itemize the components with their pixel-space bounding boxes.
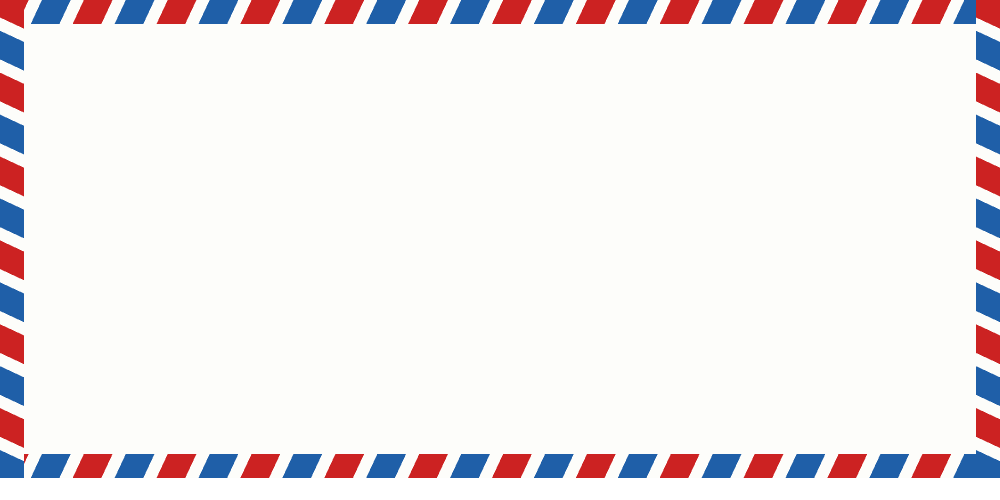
label-level-2-sub-line-1: 二级：邮区 (165, 248, 405, 268)
digit-box-1[interactable]: 3 (36, 28, 112, 104)
label-level-2-sub: 二级：邮区 (165, 248, 405, 268)
label-level-4-sub: 四级：投递局（区） (490, 416, 780, 436)
postcode-diagram: 3 1 5 5 3 7 浙江省 一级：省、自 治区、直辖市 宁波市 二级：邮 (0, 0, 1000, 500)
digit-box-6[interactable]: 7 (897, 28, 973, 104)
digit-glyph-3: 5 (400, 43, 433, 89)
digit-glyph-5: 3 (744, 43, 777, 89)
label-delivery-office: 投递局 (762, 108, 922, 132)
airmail-border-top (0, 0, 1000, 24)
label-level-3-sub: 三级：县（市）邮政局 (292, 332, 577, 352)
label-level-1-sub-line-2: 治区、直辖市 (65, 157, 245, 177)
digit-glyph-6: 7 (918, 43, 951, 89)
label-level-3: 奉化区 三级：县（市）邮政局 (292, 306, 577, 352)
label-level-4-title: 某某路邮政支局 (490, 390, 780, 414)
digit-box-2[interactable]: 1 (207, 28, 283, 104)
label-delivery-office-title: 投递局 (762, 108, 922, 132)
digit-box-4[interactable]: 5 (552, 28, 628, 104)
legend-badge: 邮编组成：四级六码 (35, 419, 252, 463)
digit-glyph-4: 5 (573, 43, 606, 89)
label-level-3-title: 奉化区 (292, 306, 577, 330)
airmail-border-right (976, 0, 1000, 500)
label-level-2: 宁波市 二级：邮区 (165, 222, 405, 268)
label-level-1: 浙江省 一级：省、自 治区、直辖市 (65, 110, 245, 177)
legend-badge-text: 邮编组成：四级六码 (53, 428, 233, 455)
label-level-1-sub: 一级：省、自 治区、直辖市 (65, 136, 245, 177)
label-level-1-title: 浙江省 (65, 110, 245, 134)
label-level-1-sub-line-1: 一级：省、自 (65, 136, 245, 156)
label-level-4-sub-line-1: 四级：投递局（区） (490, 416, 780, 436)
airmail-border-left (0, 0, 24, 500)
digit-glyph-1: 3 (57, 43, 90, 89)
digit-box-5[interactable]: 3 (723, 28, 799, 104)
digit-glyph-2: 1 (228, 43, 261, 89)
bottom-white-strip (0, 478, 1000, 500)
label-level-2-title: 宁波市 (165, 222, 405, 246)
digit-box-3[interactable]: 5 (379, 28, 455, 104)
label-level-3-sub-line-1: 三级：县（市）邮政局 (292, 332, 577, 352)
label-level-4: 某某路邮政支局 四级：投递局（区） (490, 390, 780, 436)
